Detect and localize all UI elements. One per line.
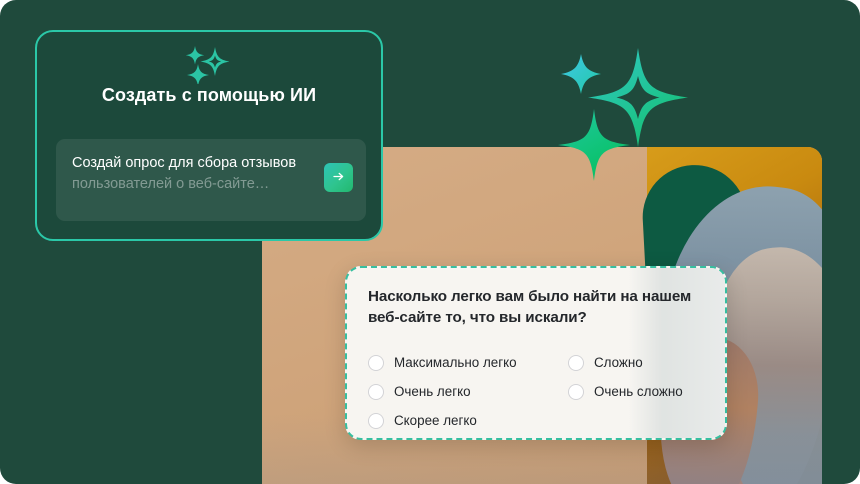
promo-stage: Создать с помощью ИИ Создай опрос для сб… <box>0 0 860 484</box>
survey-option[interactable]: Очень сложно <box>568 377 718 406</box>
survey-option-label: Максимально легко <box>394 355 517 370</box>
ai-card-title: Создать с помощью ИИ <box>37 85 381 106</box>
survey-question-text: Насколько легко вам было найти на нашем … <box>368 286 712 328</box>
ai-submit-button[interactable] <box>324 163 353 192</box>
radio-button-icon[interactable] <box>368 355 384 371</box>
ai-prompt-line-2: пользователей о веб-сайте… <box>72 174 334 195</box>
radio-button-icon[interactable] <box>568 355 584 371</box>
survey-option-label: Очень сложно <box>594 384 683 399</box>
survey-option-label: Очень легко <box>394 384 471 399</box>
survey-preview-card: Насколько легко вам было найти на нашем … <box>345 266 727 440</box>
survey-option[interactable]: Очень легко <box>368 377 568 406</box>
survey-option-label: Сложно <box>594 355 643 370</box>
sparkles-icon <box>185 44 229 84</box>
survey-options-left-column: Максимально легко Очень легко Скорее лег… <box>368 348 568 435</box>
radio-button-icon[interactable] <box>368 413 384 429</box>
radio-button-icon[interactable] <box>368 384 384 400</box>
survey-option[interactable]: Максимально легко <box>368 348 568 377</box>
ai-prompt-input[interactable]: Создай опрос для сбора отзывов пользоват… <box>56 139 366 221</box>
survey-option-label: Скорее легко <box>394 413 477 428</box>
survey-options-right-column: Сложно Очень сложно <box>568 348 718 406</box>
ai-prompt-line-1: Создай опрос для сбора отзывов <box>72 153 334 174</box>
ai-prompt-text: Создай опрос для сбора отзывов пользоват… <box>72 153 334 195</box>
ai-generate-card: Создать с помощью ИИ Создай опрос для сб… <box>35 30 383 241</box>
arrow-right-icon <box>331 169 346 187</box>
radio-button-icon[interactable] <box>568 384 584 400</box>
survey-option[interactable]: Сложно <box>568 348 718 377</box>
survey-option[interactable]: Скорее легко <box>368 406 568 435</box>
